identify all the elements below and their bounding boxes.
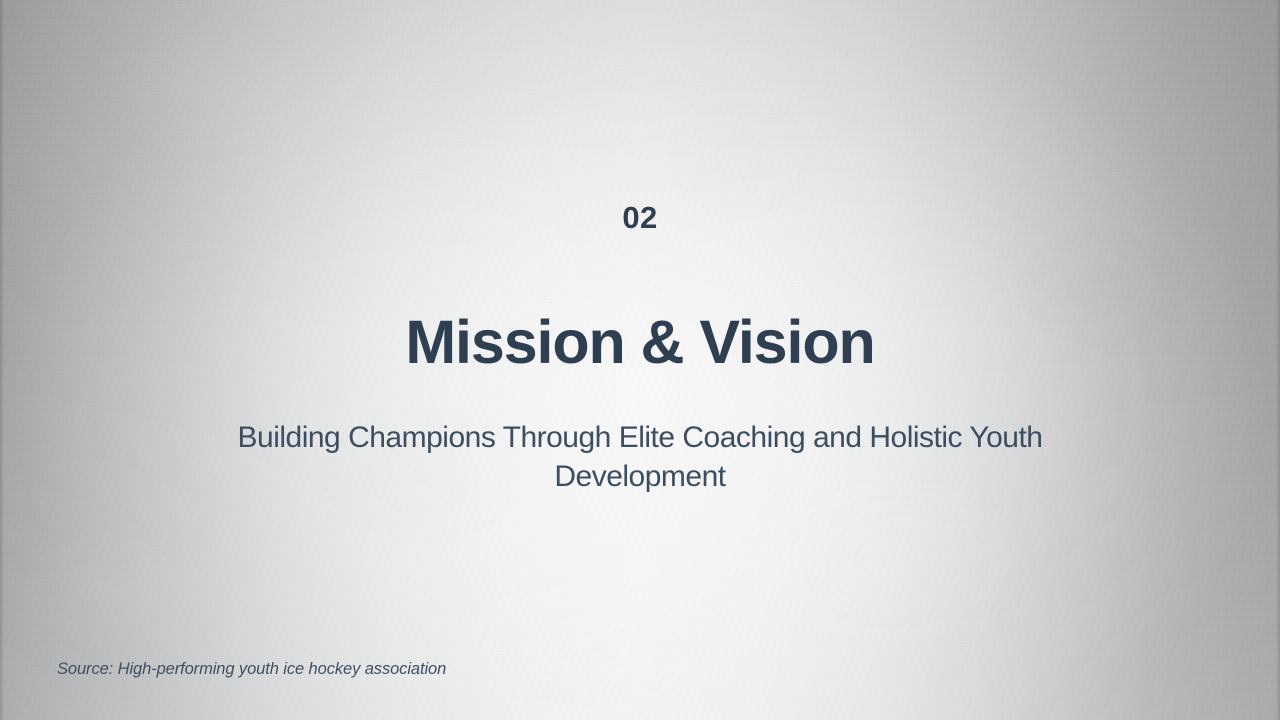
presentation-slide: 02 Mission & Vision Building Champions T… [0,0,1280,720]
source-note: Source: High-performing youth ice hockey… [57,658,446,680]
slide-content: 02 Mission & Vision Building Champions T… [0,0,1280,720]
section-number: 02 [0,196,1280,240]
slide-subtitle: Building Champions Through Elite Coachin… [190,418,1090,496]
slide-title: Mission & Vision [0,305,1280,379]
